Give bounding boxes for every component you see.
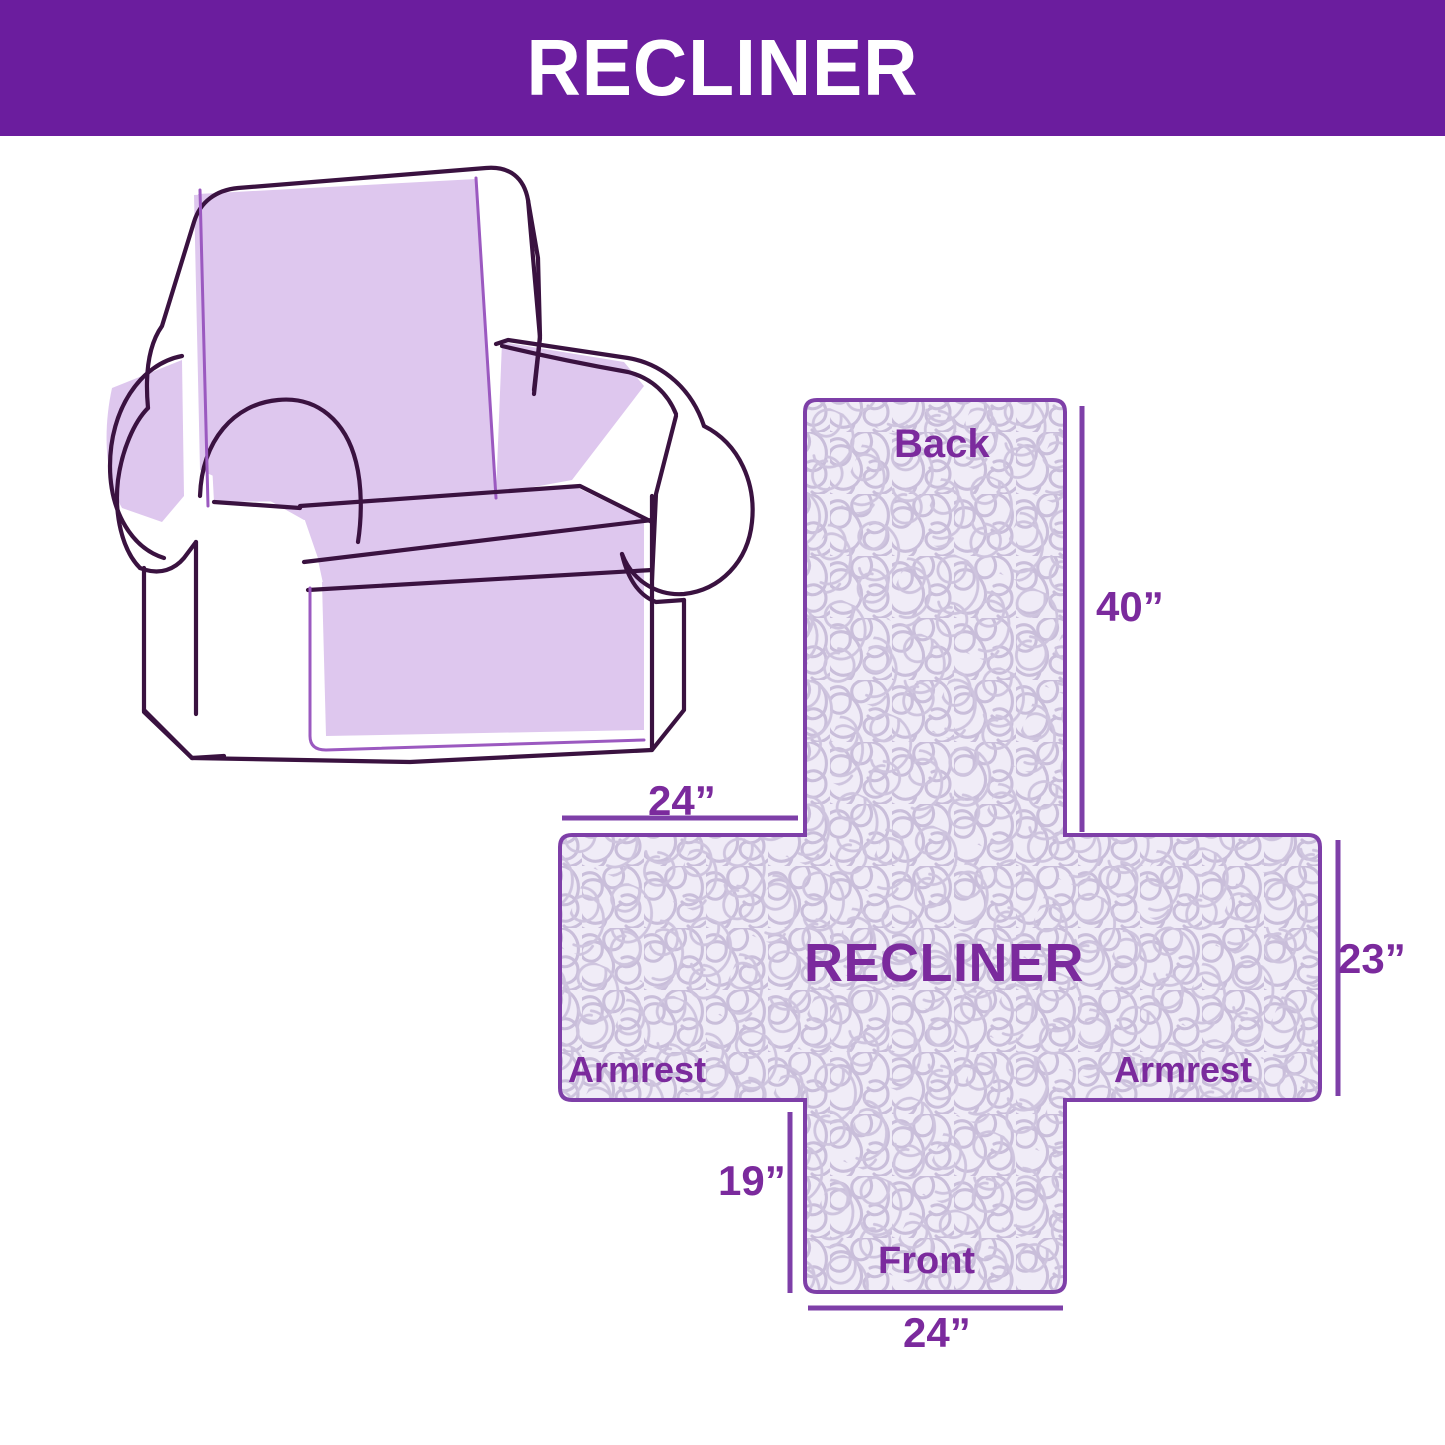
cross-outline: [560, 400, 1320, 1292]
cross-panel-group: [560, 400, 1320, 1292]
dimension-label-front-height: 19”: [718, 1160, 786, 1202]
diagram-center-label: RECLINER: [804, 936, 1084, 990]
cross-diagram-svg: [520, 370, 1380, 1380]
page-root: RECLINER: [0, 0, 1445, 1445]
dimension-label-armrest-height: 23”: [1338, 938, 1406, 980]
panel-label-front: Front: [878, 1242, 975, 1280]
panel-label-back: Back: [894, 424, 990, 464]
panel-label-armrest-left: Armrest: [568, 1052, 706, 1088]
panel-label-armrest-right: Armrest: [1114, 1052, 1252, 1088]
dimension-label-back-width: 24”: [648, 780, 716, 822]
dimension-label-front-width: 24”: [903, 1312, 971, 1354]
slipcover-cross-diagram: [520, 370, 1380, 1380]
dimension-label-back-height: 40”: [1096, 586, 1164, 628]
page-title: RECLINER: [527, 28, 919, 108]
header-banner: RECLINER: [0, 0, 1445, 136]
